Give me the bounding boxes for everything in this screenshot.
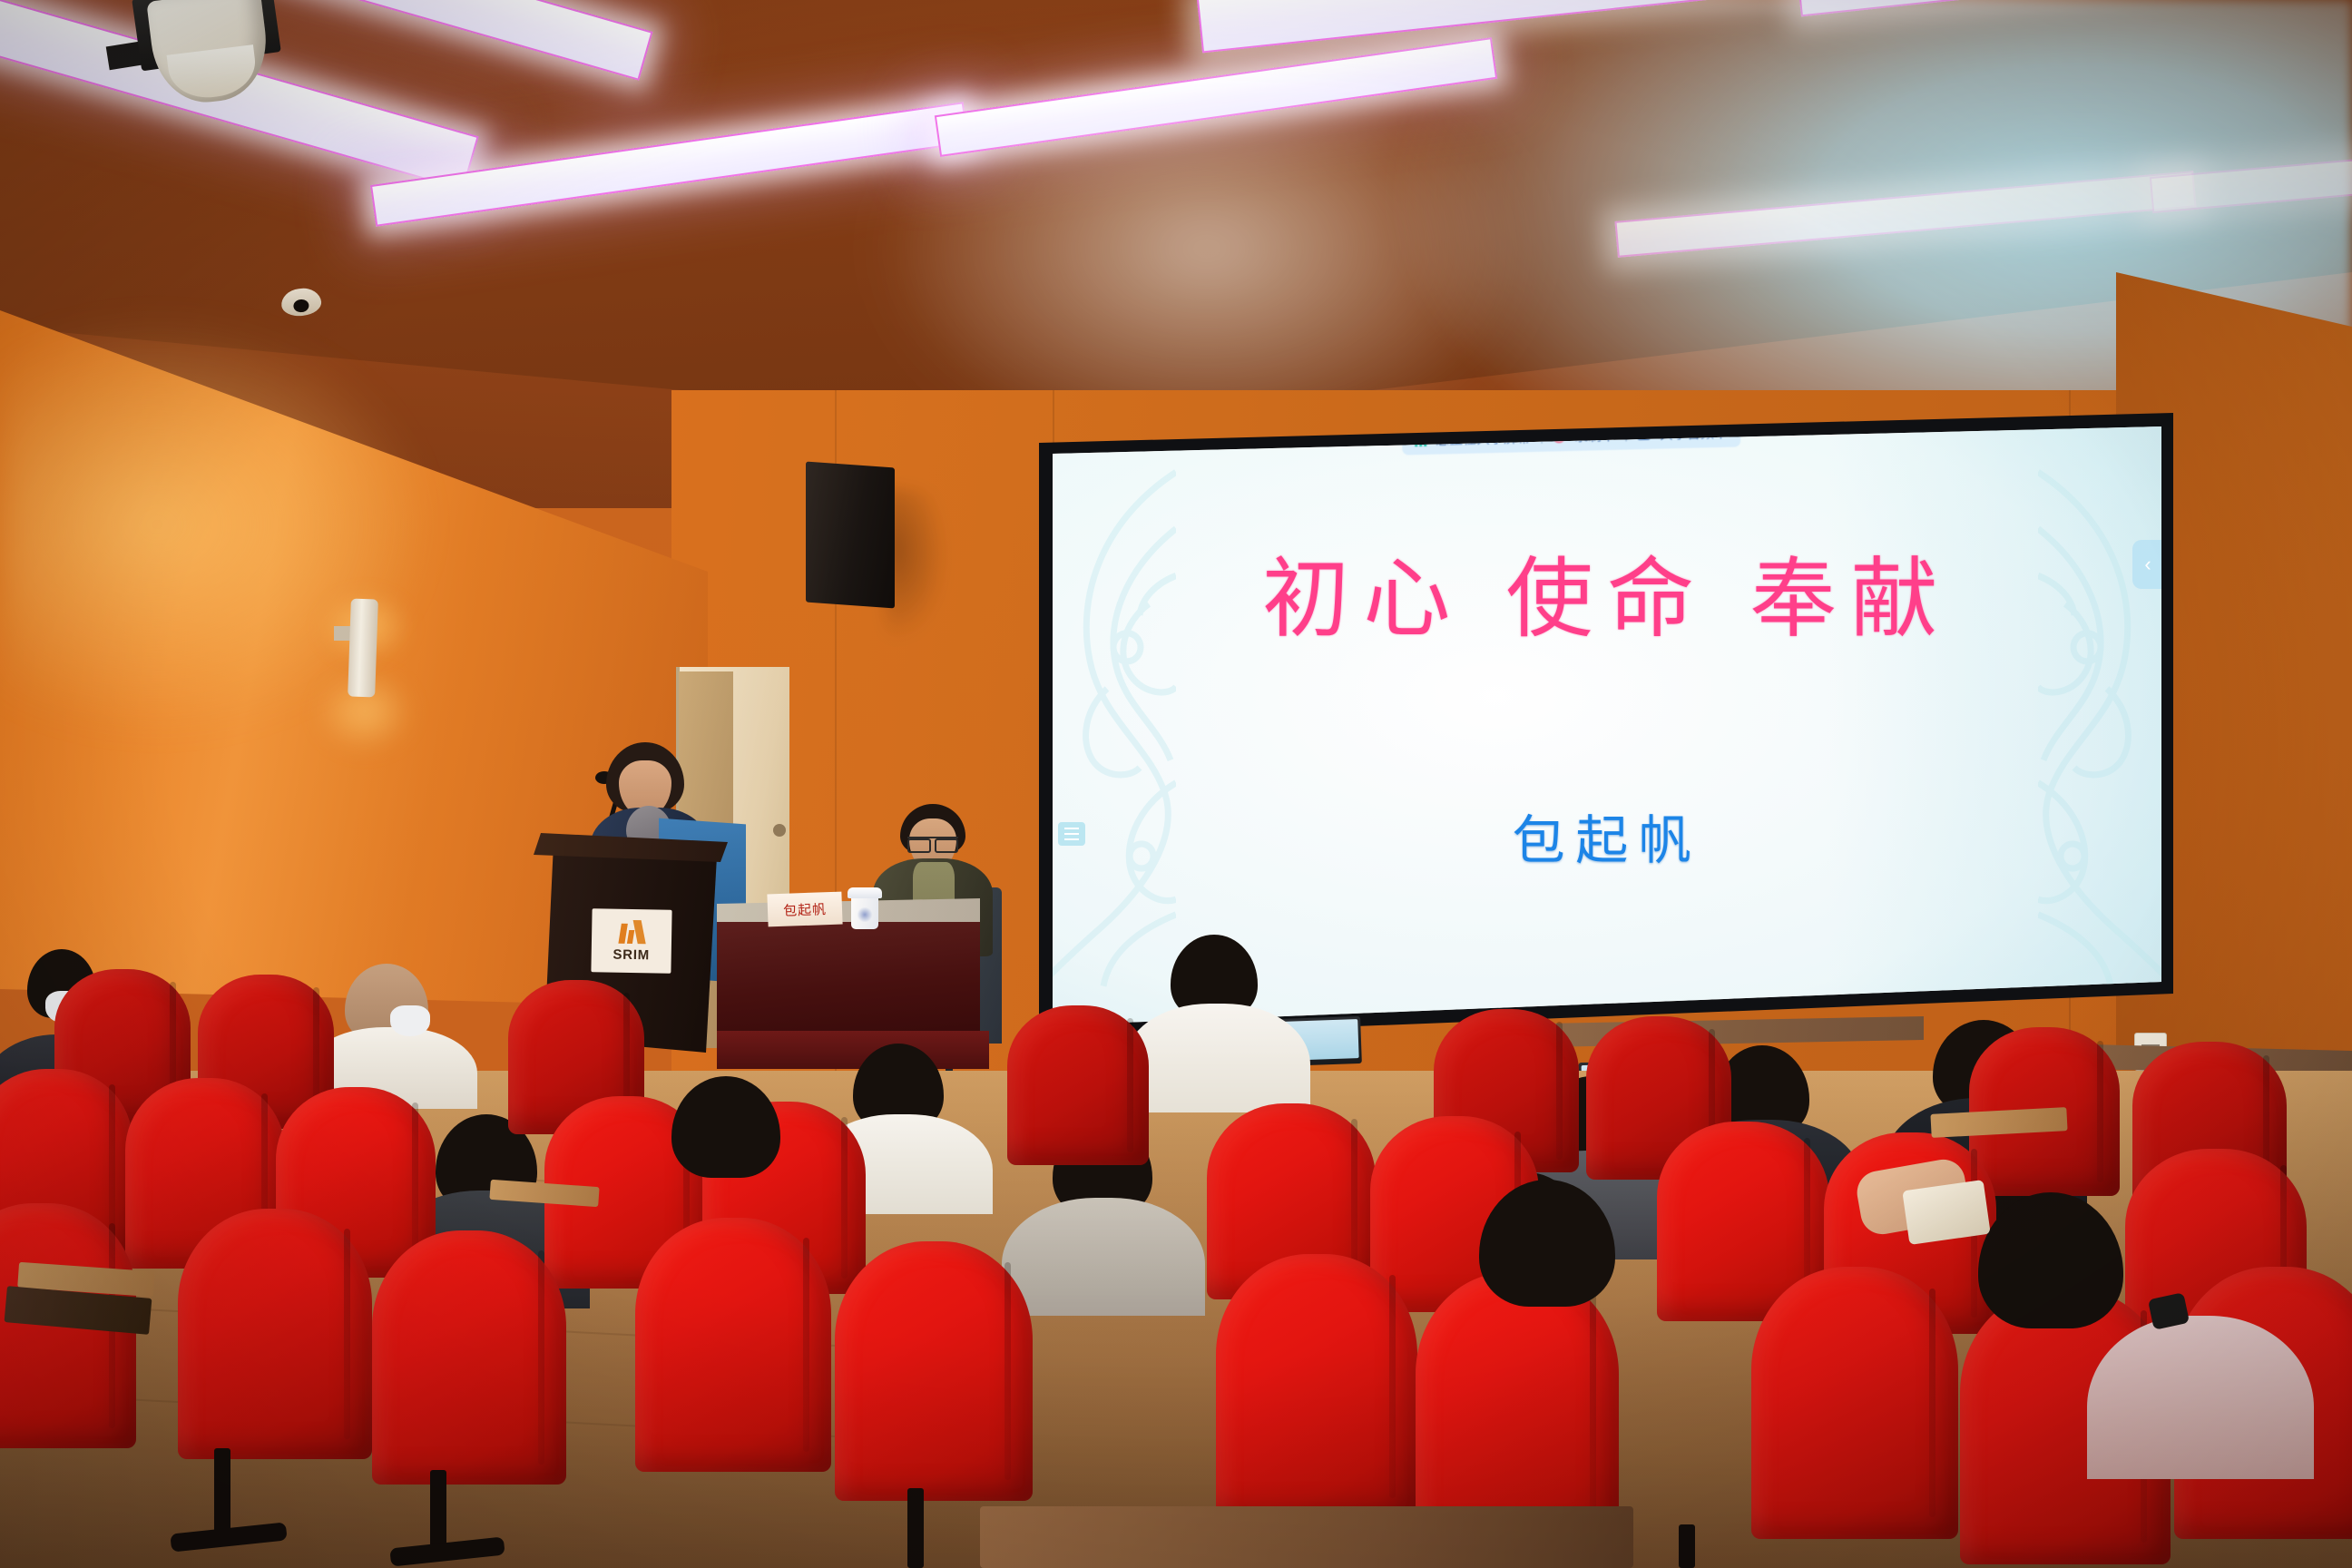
hamburger-menu-icon[interactable] [1058,822,1085,846]
chevron-left-icon: ‹ [2144,553,2151,576]
auditorium-seat[interactable] [1216,1254,1417,1519]
auditorium-scene: 初心 使命 奉献 包起帆 您正在共享屏幕 | 录制中 | 共享音频中 ‹ [0,0,2352,1568]
door-knob-icon[interactable] [773,824,786,837]
mobile-phone[interactable] [1902,1180,1990,1245]
front-desk [980,1506,1633,1568]
auditorium-seat[interactable] [1416,1272,1619,1541]
auditorium-seat[interactable] [835,1241,1033,1501]
srim-logo-mark [620,919,643,943]
srim-logo: SRIM [591,908,671,974]
seat-leg [1679,1524,1695,1568]
screen-glare [1828,426,2161,1025]
name-card: 包起帆 [767,892,842,927]
slide-title: 初心 使命 奉献 [1053,528,2161,654]
auditorium-seat[interactable] [1751,1267,1958,1539]
teacup-lid [848,887,882,898]
audience-shoulders [1002,1198,1205,1316]
pa-speaker [806,462,895,609]
wall-sconce [348,599,378,698]
audience-shoulders [1123,1004,1310,1112]
auditorium-seat[interactable] [635,1218,831,1472]
name-card-text: 包起帆 [783,899,827,920]
stage-table-front [717,922,980,1038]
srim-logo-text: SRIM [612,946,650,963]
left-wall-glow [0,299,563,862]
auditorium-seat[interactable] [372,1230,566,1485]
auditorium-seat[interactable] [178,1209,372,1459]
teacup [851,893,878,929]
stage-table-skirt [717,1031,989,1069]
face-mask [390,1005,430,1036]
seat-leg [907,1488,924,1568]
collapse-panel-button[interactable]: ‹ [2132,540,2161,589]
eyeglasses-icon [907,837,958,848]
audience-shoulders [2087,1316,2314,1479]
slide-author: 包起帆 [1053,798,2161,874]
auditorium-seat[interactable] [1007,1005,1149,1165]
